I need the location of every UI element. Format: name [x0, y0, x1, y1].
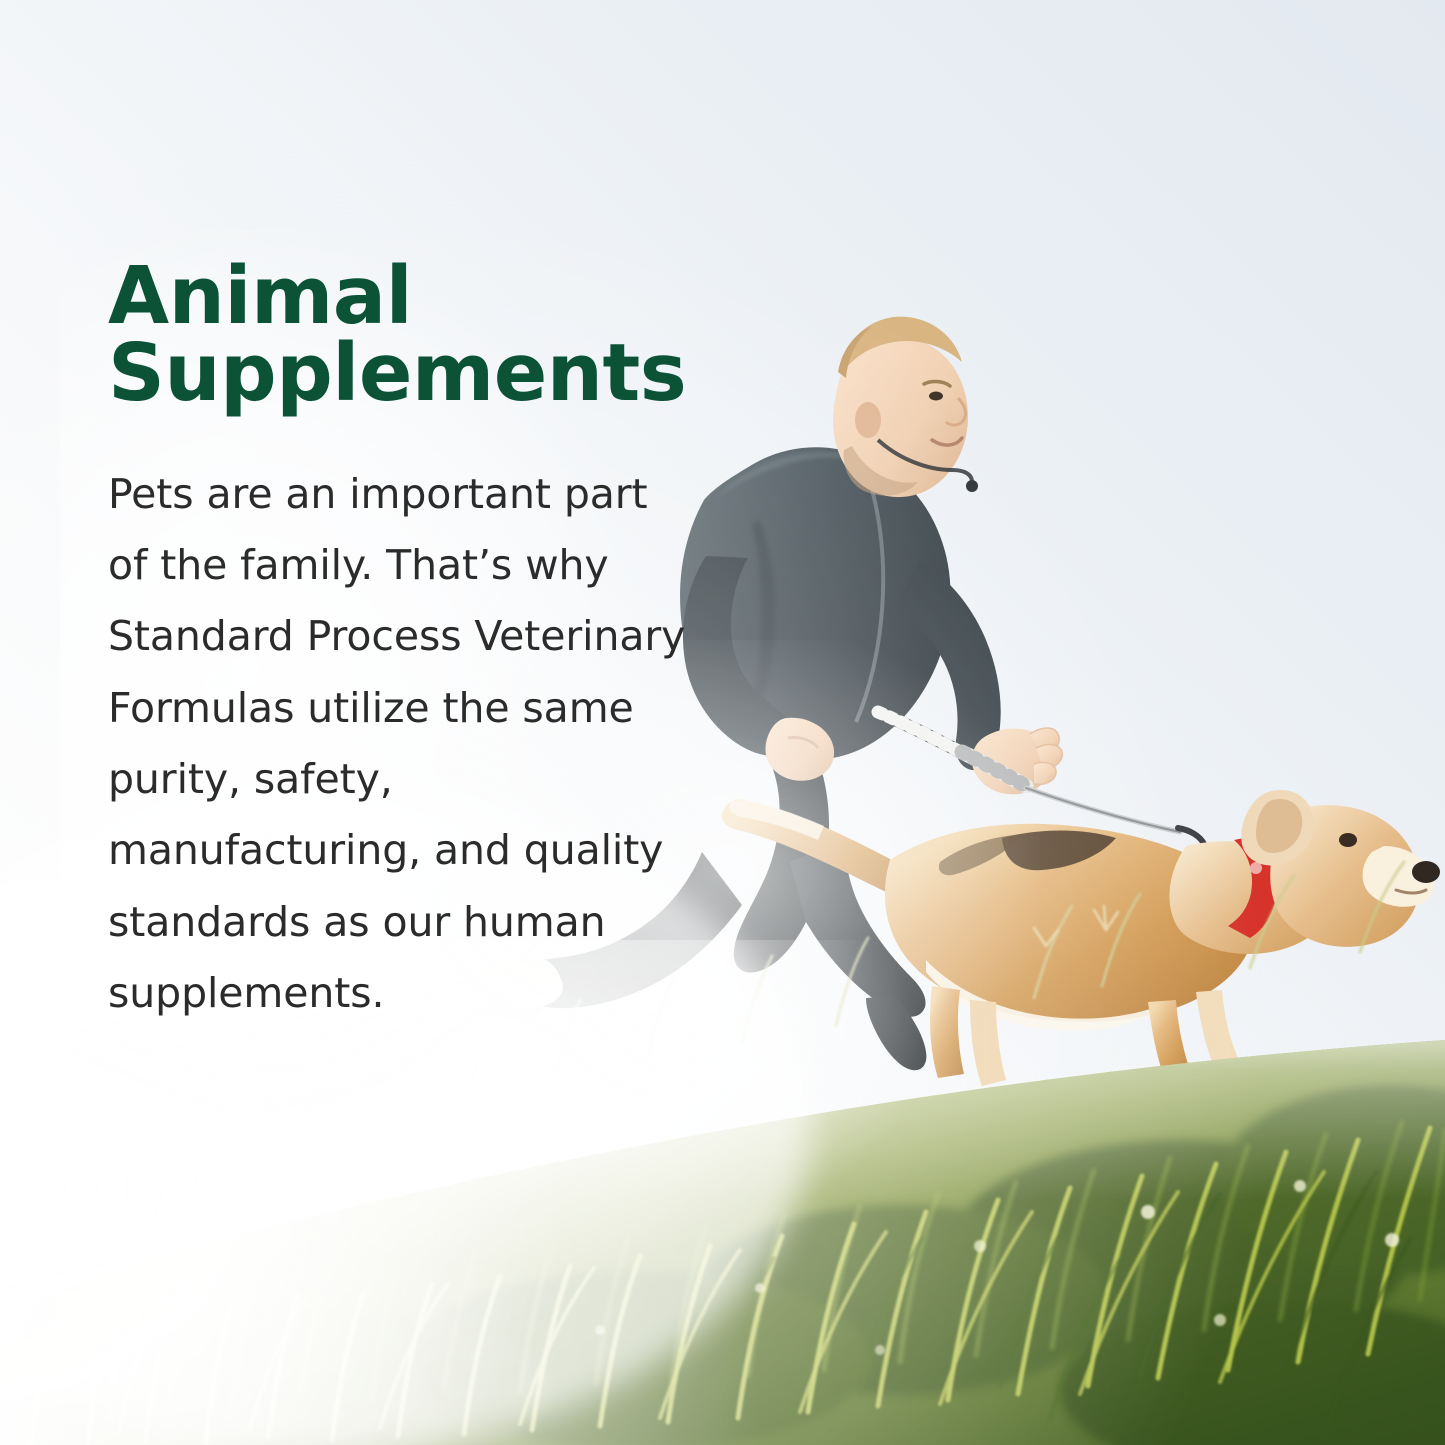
text-block: Animal Supplements Pets are an important… — [108, 258, 688, 1029]
body-paragraph: Pets are an important part of the family… — [108, 413, 688, 1030]
promo-banner: Animal Supplements Pets are an important… — [0, 0, 1445, 1445]
page-title: Animal Supplements — [108, 258, 688, 413]
